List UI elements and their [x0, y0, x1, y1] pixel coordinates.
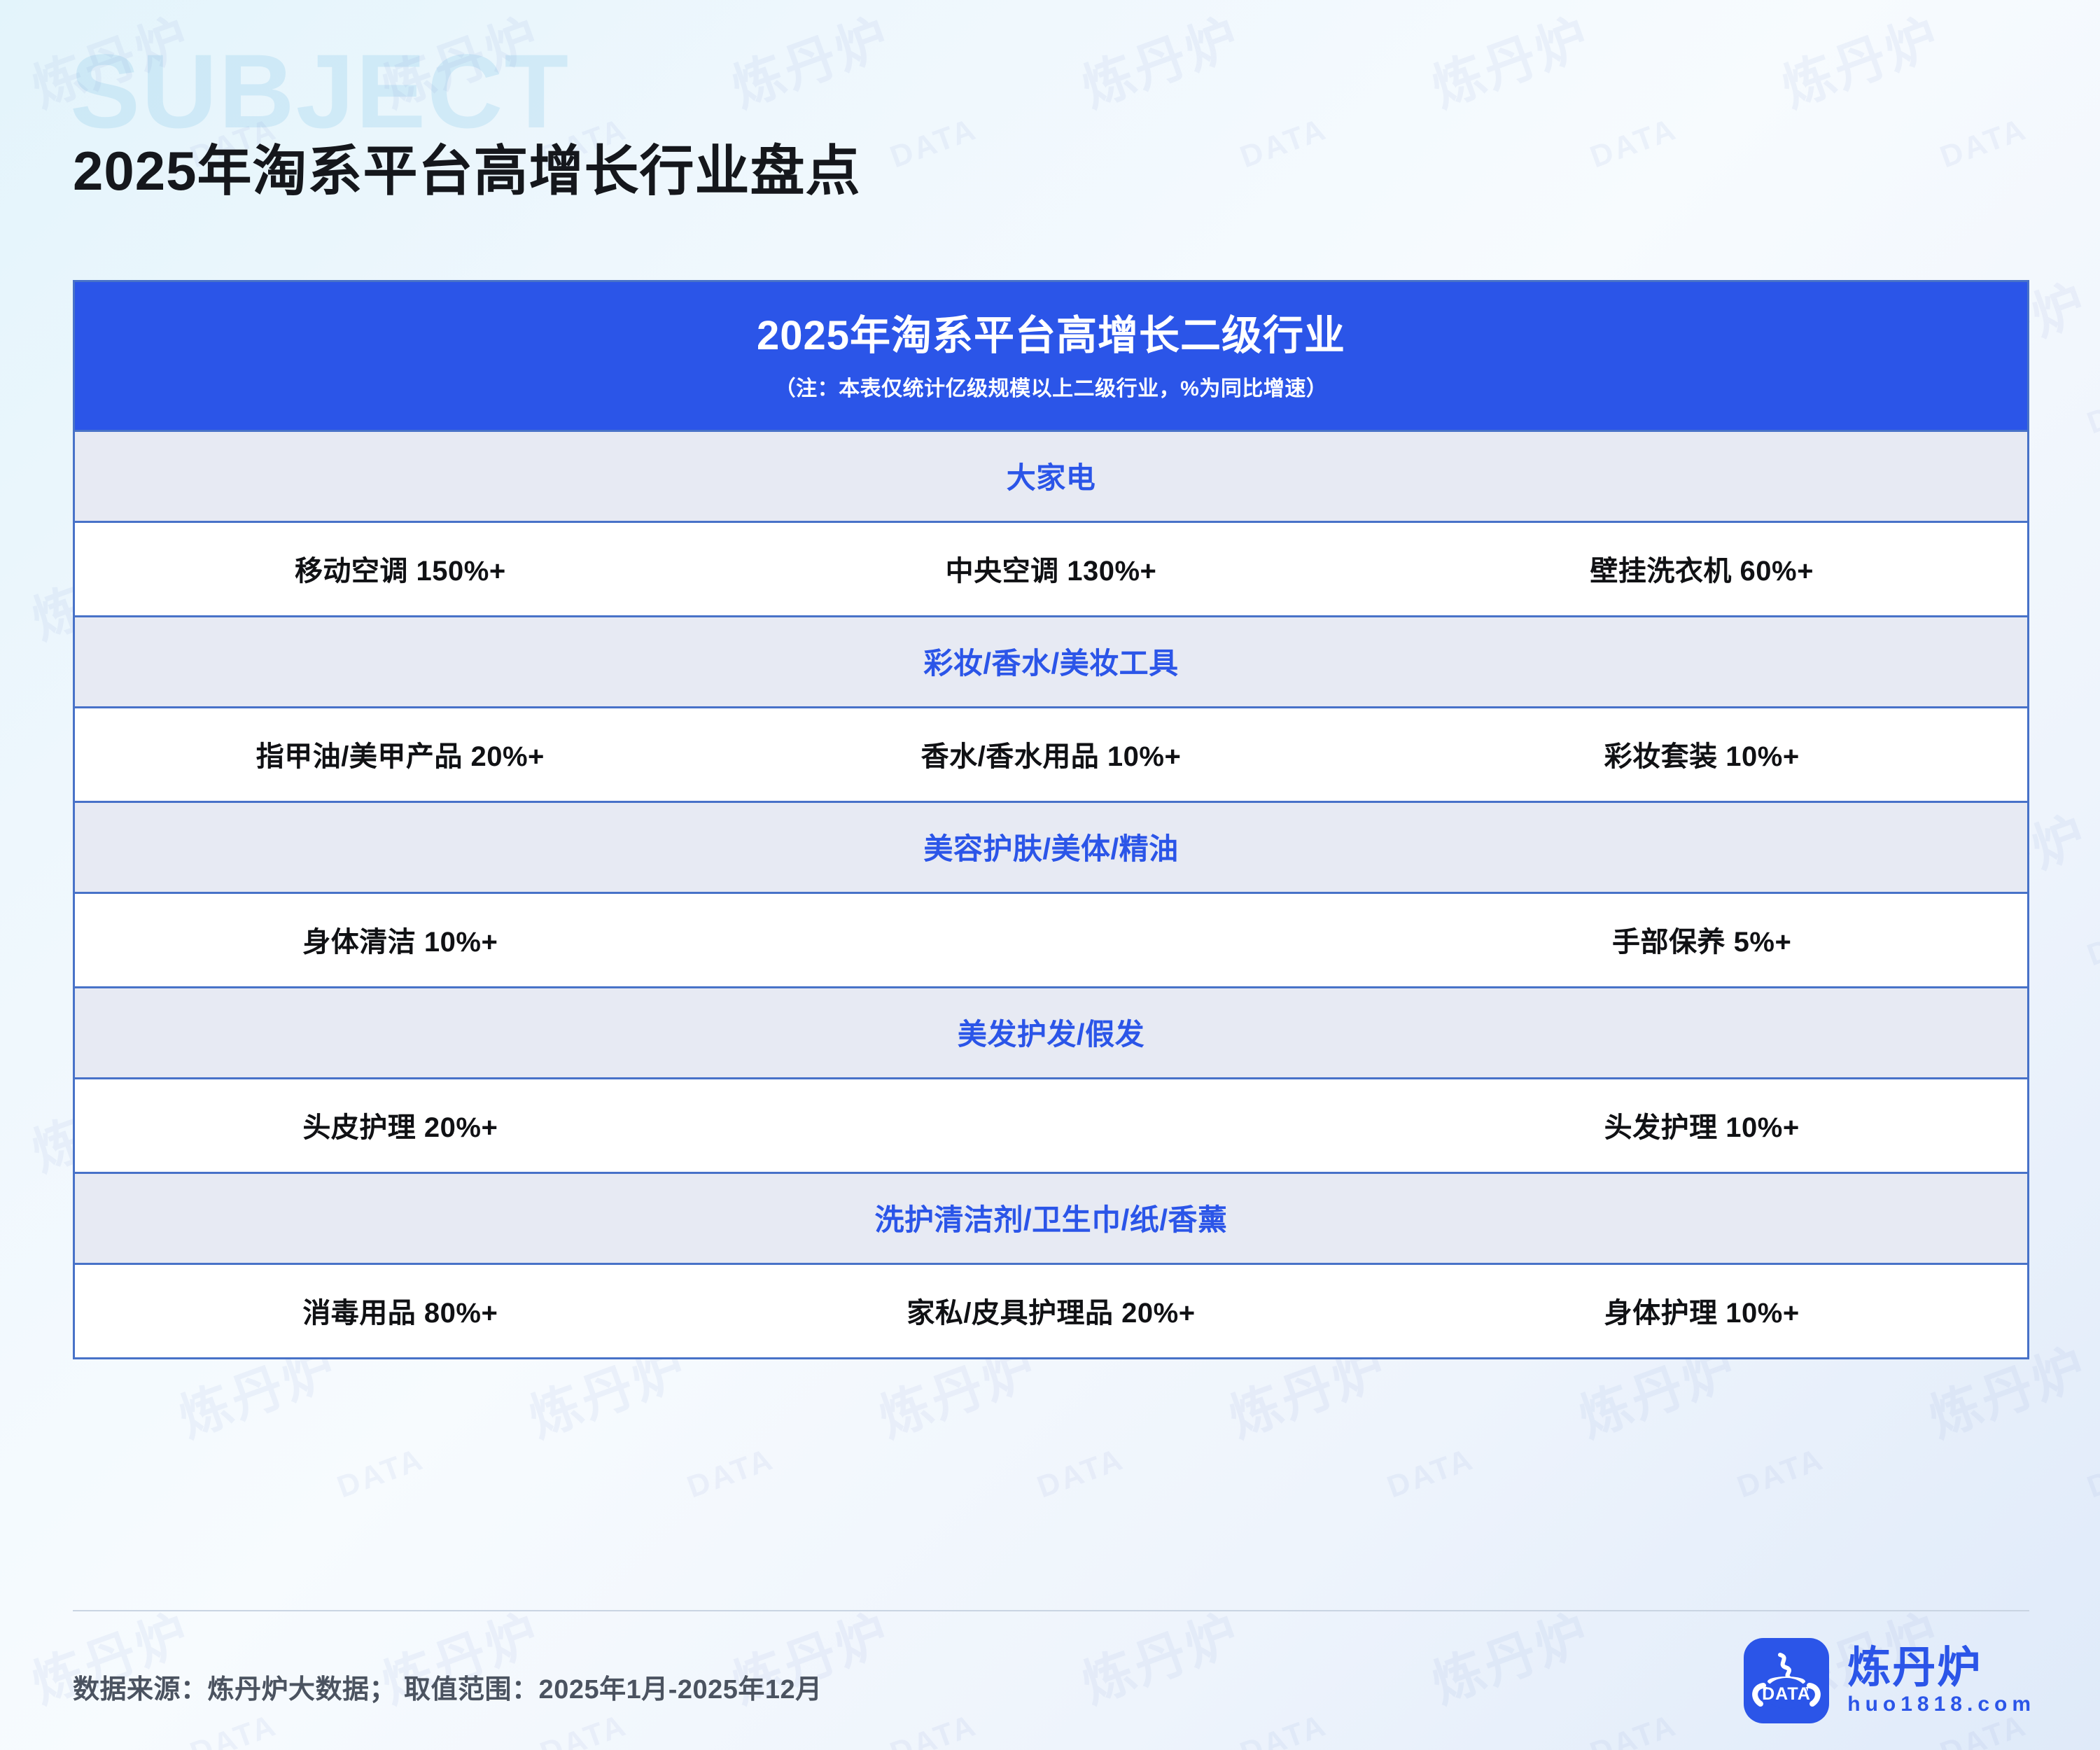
watermark-data-text: DATA: [1032, 1442, 1128, 1506]
watermark-data-text: DATA: [885, 1708, 981, 1750]
brand-text: 炼丹炉 huo1818.com: [1847, 1646, 2036, 1715]
watermark-brand-text: 炼丹炉: [1420, 0, 1599, 122]
category-label: 彩妆/香水/美妆工具: [75, 640, 2027, 682]
category-row: 美发护发/假发: [75, 988, 2027, 1079]
table-cell-empty: [726, 1079, 1377, 1172]
category-label: 美容护肤/美体/精油: [75, 825, 2027, 868]
brand-url: huo1818.com: [1847, 1694, 2036, 1715]
table-header-note: （注：本表仅统计亿级规模以上二级行业，%为同比增速）: [75, 371, 2027, 402]
watermark-data-text: DATA: [1732, 1442, 1828, 1506]
table-row: 头皮护理 20%+头发护理 10%+: [75, 1079, 2027, 1174]
watermark-brand-text: 炼丹炉: [1070, 0, 1249, 122]
table-header: 2025年淘系平台高增长二级行业 （注：本表仅统计亿级规模以上二级行业，%为同比…: [75, 282, 2027, 432]
watermark-brand-text: 炼丹炉: [720, 0, 899, 122]
table-cell: 手部保养 5%+: [1376, 894, 2027, 986]
table-cell-empty: [726, 894, 1377, 986]
brand-logo[interactable]: DATA 炼丹炉 huo1818.com: [1744, 1638, 2036, 1723]
watermark-brand-text: 炼丹炉: [1770, 0, 1949, 122]
watermark-data-text: DATA: [1585, 112, 1681, 176]
watermark-brand-text: 炼丹炉: [20, 0, 199, 122]
category-row: 洗护清洁剂/卫生巾/纸/香薰: [75, 1174, 2027, 1265]
table-cell: 彩妆套装 10%+: [1376, 708, 2027, 801]
table-cell: 头发护理 10%+: [1376, 1079, 2027, 1172]
category-label: 洗护清洁剂/卫生巾/纸/香薰: [75, 1196, 2027, 1239]
cauldron-data-icon: DATA: [1744, 1638, 1829, 1723]
watermark-data-text: DATA: [185, 1708, 281, 1750]
table-cell: 壁挂洗衣机 60%+: [1376, 523, 2027, 615]
category-label: 美发护发/假发: [75, 1011, 2027, 1053]
table-cell: 移动空调 150%+: [75, 523, 726, 615]
table-cell: 消毒用品 80%+: [75, 1265, 726, 1357]
watermark-data-text: DATA: [1235, 112, 1331, 176]
watermark-data-text: DATA: [682, 1442, 778, 1506]
watermark-data-text: DATA: [2082, 910, 2100, 974]
table-header-title: 2025年淘系平台高增长二级行业: [75, 313, 2027, 360]
watermark-brand-text: 炼丹炉: [370, 0, 549, 122]
footer-source-note: 数据来源：炼丹炉大数据； 取值范围：2025年1月-2025年12月: [73, 1667, 822, 1706]
table-cell: 头皮护理 20%+: [75, 1079, 726, 1172]
table-row: 指甲油/美甲产品 20%+香水/香水用品 10%+彩妆套装 10%+: [75, 708, 2027, 803]
category-row: 美容护肤/美体/精油: [75, 803, 2027, 894]
category-label: 大家电: [75, 454, 2027, 497]
watermark-data-text: DATA: [1935, 112, 2031, 176]
category-row: 大家电: [75, 432, 2027, 523]
category-row: 彩妆/香水/美妆工具: [75, 617, 2027, 708]
page-title: 2025年淘系平台高增长行业盘点: [73, 127, 861, 206]
poster-page: SUBJECT 炼丹炉DATA炼丹炉DATA炼丹炉DATA炼丹炉DATA炼丹炉D…: [0, 0, 2100, 1750]
table-cell: 家私/皮具护理品 20%+: [726, 1265, 1377, 1357]
watermark-data-text: DATA: [332, 1442, 428, 1506]
table-cell: 身体护理 10%+: [1376, 1265, 2027, 1357]
table-cell: 身体清洁 10%+: [75, 894, 726, 986]
watermark-data-text: DATA: [1585, 1708, 1681, 1750]
watermark-data-text: DATA: [535, 1708, 631, 1750]
table-cell: 指甲油/美甲产品 20%+: [75, 708, 726, 801]
table-cell: 中央空调 130%+: [726, 523, 1377, 615]
watermark-data-text: DATA: [1235, 1708, 1331, 1750]
table-cell: 香水/香水用品 10%+: [726, 708, 1377, 801]
footer-divider: [73, 1610, 2029, 1611]
industry-table: 2025年淘系平台高增长二级行业 （注：本表仅统计亿级规模以上二级行业，%为同比…: [73, 280, 2029, 1359]
table-body: 大家电移动空调 150%+中央空调 130%+壁挂洗衣机 60%+彩妆/香水/美…: [75, 432, 2027, 1357]
watermark-data-text: DATA: [2082, 1442, 2100, 1506]
watermark-data-text: DATA: [2082, 378, 2100, 442]
table-row: 消毒用品 80%+家私/皮具护理品 20%+身体护理 10%+: [75, 1265, 2027, 1357]
table-row: 移动空调 150%+中央空调 130%+壁挂洗衣机 60%+: [75, 523, 2027, 617]
svg-text:DATA: DATA: [1762, 1684, 1811, 1704]
watermark-data-text: DATA: [885, 112, 981, 176]
table-row: 身体清洁 10%+手部保养 5%+: [75, 894, 2027, 988]
brand-name: 炼丹炉: [1847, 1646, 2036, 1690]
watermark-data-text: DATA: [1382, 1442, 1478, 1506]
